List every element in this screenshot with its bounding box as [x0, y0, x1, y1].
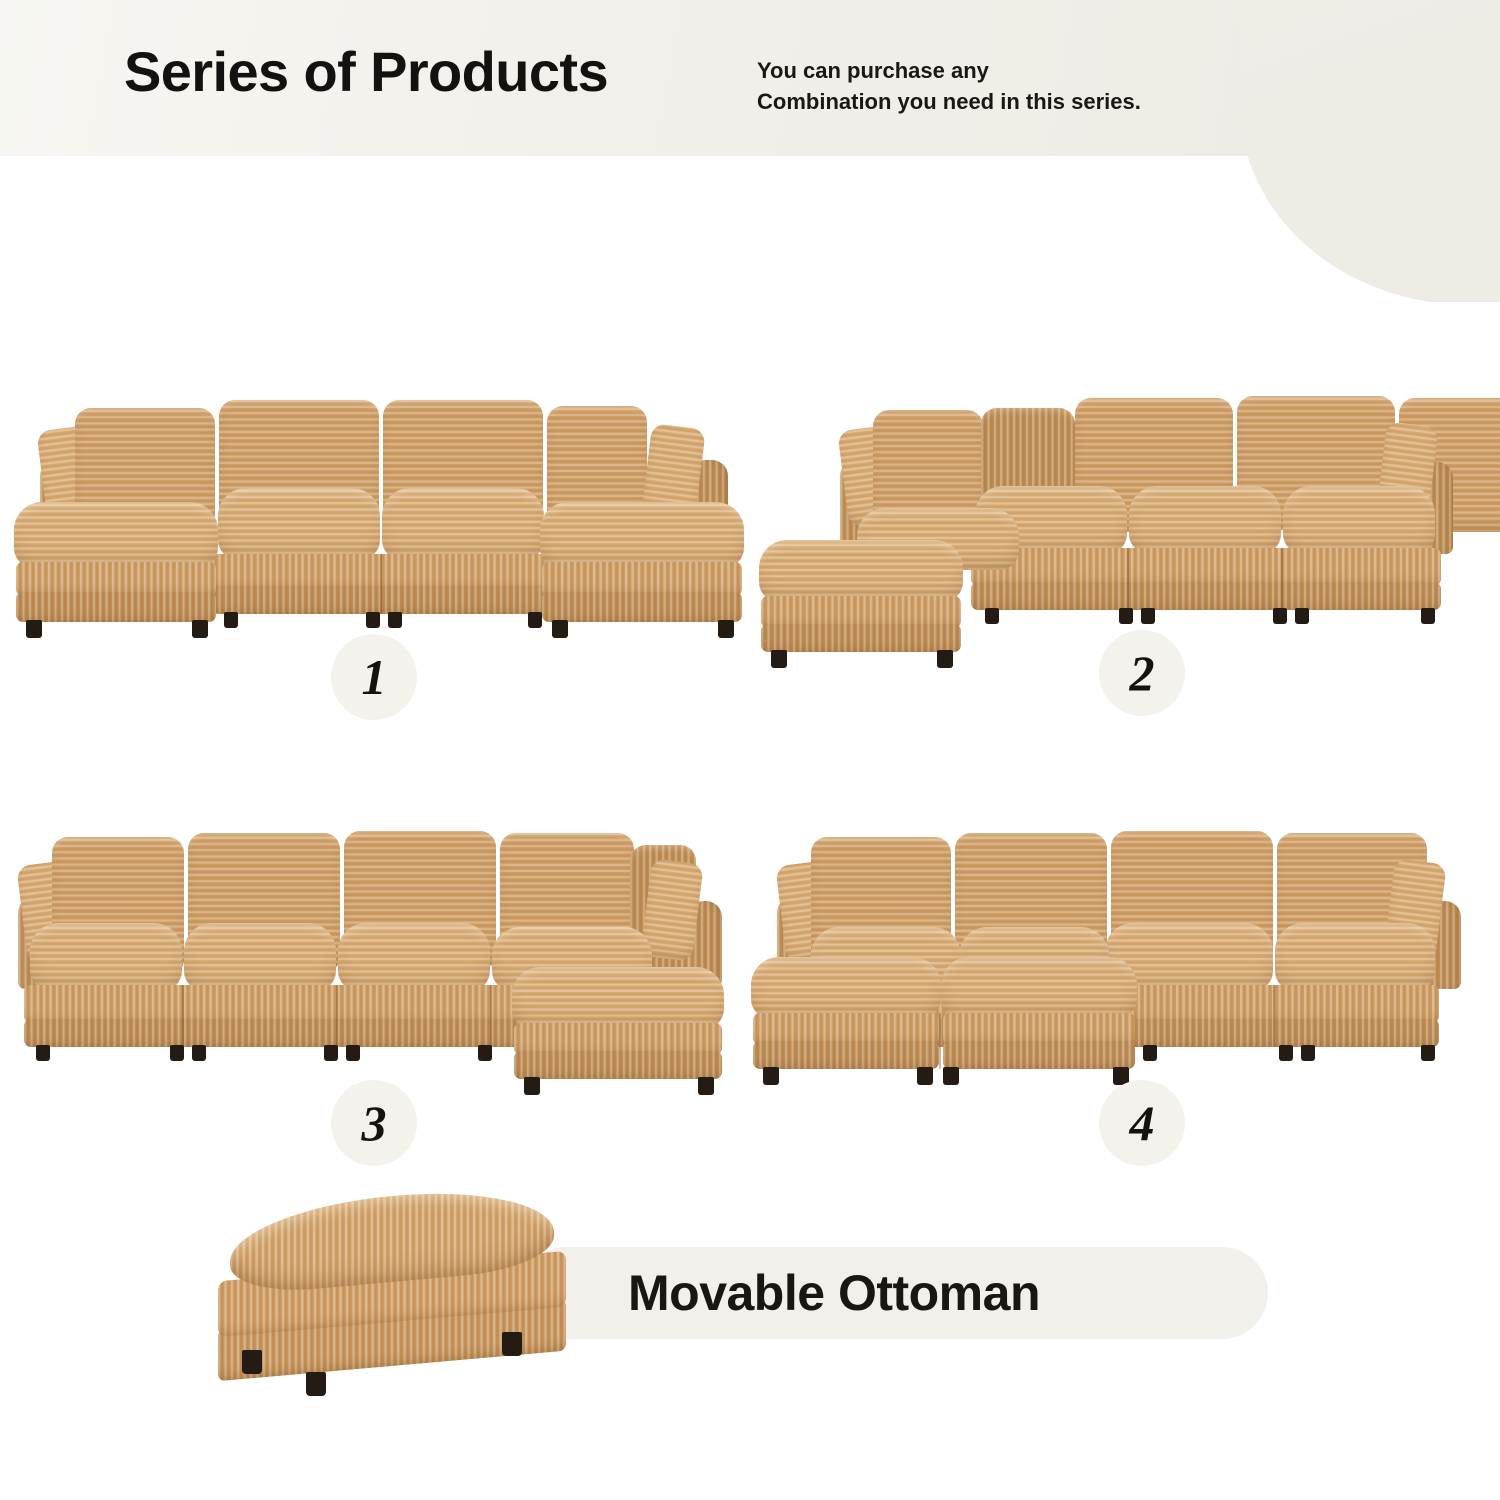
badge-number: 4 [1130, 1094, 1155, 1152]
sofa-foot [1119, 608, 1133, 624]
ottoman-plinth [16, 592, 216, 622]
sofa-foot [771, 650, 787, 668]
base-seam [182, 985, 184, 1047]
ottoman-cushion [759, 540, 963, 602]
sofa-foot [937, 650, 953, 668]
base-seam [490, 985, 492, 1047]
sofa-foot [1295, 608, 1309, 624]
page-subtitle: You can purchase any Combination you nee… [757, 55, 1141, 117]
combination-4[interactable] [745, 815, 1485, 1065]
ottoman-base [16, 562, 216, 596]
badge-number: 2 [1130, 644, 1155, 702]
sofa-foot [1143, 1045, 1157, 1061]
sofa-foot [36, 1045, 50, 1061]
sofa-foot [718, 620, 734, 638]
ottoman-cushion [540, 502, 744, 568]
ottoman-base [542, 562, 742, 596]
sofa-plinth [971, 582, 1441, 610]
sofa-foot [192, 620, 208, 638]
sofa-foot [170, 1045, 184, 1061]
movable-ottoman-label: Movable Ottoman [628, 1254, 1248, 1332]
sofa-foot [478, 1045, 492, 1061]
sofa-foot [1421, 608, 1435, 624]
seat-cushion [382, 488, 544, 560]
seat-cushion [218, 488, 380, 560]
base-seam [1273, 985, 1275, 1047]
sofa-foot [1301, 1045, 1315, 1061]
sofa-foot [985, 608, 999, 624]
combination-badge-1[interactable]: 1 [331, 634, 417, 720]
seat-cushion [1129, 486, 1281, 554]
base-seam [336, 985, 338, 1047]
ottoman-foot [502, 1332, 522, 1356]
sofa-illustration-2 [745, 380, 1485, 630]
ottoman-foot [242, 1350, 262, 1374]
seat-cushion [1275, 923, 1435, 991]
sofa-foot [763, 1067, 779, 1085]
badge-number: 1 [362, 648, 387, 706]
ottoman-plinth [761, 624, 961, 652]
seat-cushion [30, 923, 182, 991]
sofa-foot [1141, 608, 1155, 624]
sofa-foot [346, 1045, 360, 1061]
sofa-foot [528, 612, 542, 628]
page-title: Series of Products [124, 42, 608, 102]
ottoman-cushion [751, 957, 941, 1019]
sofa-foot [324, 1045, 338, 1061]
sofa-illustration-1 [0, 380, 740, 630]
combination-badge-4[interactable]: 4 [1099, 1080, 1185, 1166]
sofa-foot [388, 612, 402, 628]
sofa-illustration-3 [0, 815, 740, 1065]
sofa-foot [1273, 608, 1287, 624]
combination-badge-3[interactable]: 3 [331, 1080, 417, 1166]
sofa-illustration-4 [745, 815, 1485, 1065]
base-seam [1127, 548, 1129, 610]
ottoman-cushion [512, 967, 724, 1029]
sofa-foot [192, 1045, 206, 1061]
header-band-curve [1240, 0, 1500, 302]
sofa-foot [26, 620, 42, 638]
combination-2[interactable] [745, 380, 1485, 630]
seat-cushion [338, 923, 490, 991]
sofa-foot [1279, 1045, 1293, 1061]
combination-3[interactable] [0, 815, 740, 1065]
ottoman-seam [939, 1013, 941, 1069]
base-seam [1281, 548, 1283, 610]
combination-1[interactable] [0, 380, 740, 630]
seat-cushion [1283, 486, 1435, 554]
sofa-base [971, 548, 1441, 586]
ottoman-cushion [14, 502, 218, 568]
combination-badge-2[interactable]: 2 [1099, 630, 1185, 716]
ottoman-cushion [941, 957, 1137, 1019]
product-infographic: Series of Products You can purchase any … [0, 0, 1500, 1500]
sofa-foot [943, 1067, 959, 1085]
ottoman-plinth [514, 1051, 722, 1079]
sofa-foot [524, 1077, 540, 1095]
ottoman-plinth [753, 1041, 939, 1069]
sofa-foot [1421, 1045, 1435, 1061]
ottoman-icon [212, 1196, 572, 1392]
ottoman-plinth [542, 592, 742, 622]
sofa-foot [552, 620, 568, 638]
sofa-foot [698, 1077, 714, 1095]
badge-number: 3 [362, 1094, 387, 1152]
sofa-foot [224, 612, 238, 628]
sofa-foot [366, 612, 380, 628]
sofa-foot [917, 1067, 933, 1085]
ottoman-plinth [943, 1041, 1135, 1069]
ottoman-foot [306, 1372, 326, 1396]
base-seam [380, 554, 382, 614]
seat-cushion [184, 923, 336, 991]
